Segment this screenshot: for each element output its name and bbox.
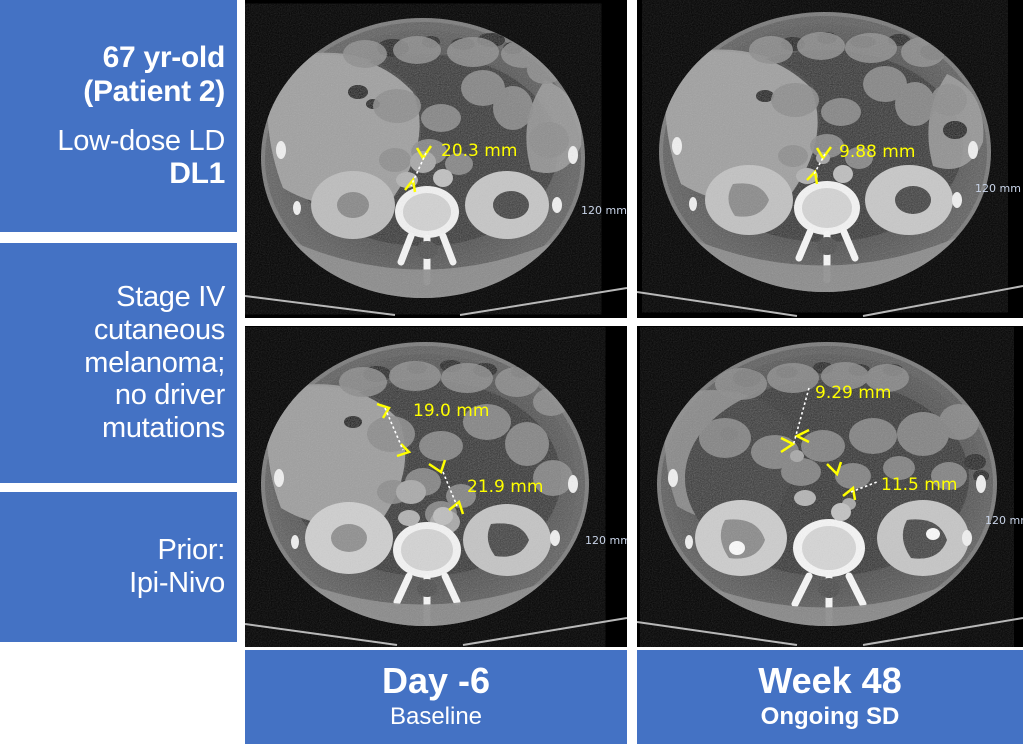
- measurement-label-1: 9.88 mm: [839, 142, 915, 162]
- ct-image-week48-lower: 9.29 mm 11.5 mm 120 mm: [637, 326, 1023, 647]
- patient-age: 67 yr-old: [103, 41, 225, 75]
- ct-scan-baseline-upper: 20.3 mm 120 mm: [245, 0, 627, 318]
- diagnosis-line-5: mutations: [102, 412, 225, 445]
- timepoint-day-value: Day -6: [382, 662, 490, 700]
- prior-therapy-value: Ipi-Nivo: [129, 567, 225, 600]
- measurement-label-2: 21.9 mm: [467, 477, 543, 497]
- measurement-label-1: 20.3 mm: [441, 141, 517, 161]
- dose-level-label: DL1: [169, 157, 225, 191]
- diagnosis-line-3: melanoma;: [84, 347, 225, 380]
- ct-scan-week48-upper: 9.88 mm 120 mm: [637, 0, 1023, 318]
- sidebar-panel-prior-therapy: Prior: Ipi-Nivo: [0, 492, 237, 642]
- ct-image-week48-upper: 9.88 mm 120 mm: [637, 0, 1023, 318]
- sidebar-panel-demographics: 67 yr-old (Patient 2) Low-dose LD DL1: [0, 0, 237, 232]
- timepoint-label-week48: Week 48 Ongoing SD: [637, 650, 1023, 744]
- ct-image-baseline-lower: 19.0 mm 21.9 mm 120 mm: [245, 326, 627, 647]
- measurement-label-1: 9.29 mm: [815, 383, 891, 403]
- ct-scan-week48-lower: 9.29 mm 11.5 mm 120 mm: [637, 326, 1023, 647]
- scale-label: 120 mm: [585, 534, 627, 547]
- timepoint-baseline-sub: Baseline: [390, 702, 482, 732]
- patient-identifier: (Patient 2): [83, 75, 225, 109]
- ct-image-baseline-upper: 20.3 mm 120 mm: [245, 0, 627, 318]
- sidebar-panel-diagnosis: Stage IV cutaneous melanoma; no driver m…: [0, 243, 237, 483]
- figure-root: 67 yr-old (Patient 2) Low-dose LD DL1 St…: [0, 0, 1023, 744]
- prior-therapy-heading: Prior:: [158, 534, 226, 567]
- scale-label: 120 mm: [985, 514, 1023, 527]
- timepoint-week-value: Week 48: [758, 662, 901, 700]
- dose-cohort-label: Low-dose LD: [57, 125, 225, 158]
- scale-label: 120 mm: [581, 204, 627, 217]
- diagnosis-line-4: no driver: [115, 379, 225, 412]
- timepoint-response-status: Ongoing SD: [761, 702, 900, 732]
- diagnosis-line-2: cutaneous: [94, 314, 225, 347]
- timepoint-label-baseline: Day -6 Baseline: [245, 650, 627, 744]
- measurement-label-2: 11.5 mm: [881, 475, 957, 495]
- ct-scan-baseline-lower: 19.0 mm 21.9 mm 120 mm: [245, 326, 627, 647]
- scale-label: 120 mm: [975, 182, 1021, 195]
- diagnosis-line-1: Stage IV: [116, 281, 225, 314]
- measurement-label-1: 19.0 mm: [413, 401, 489, 421]
